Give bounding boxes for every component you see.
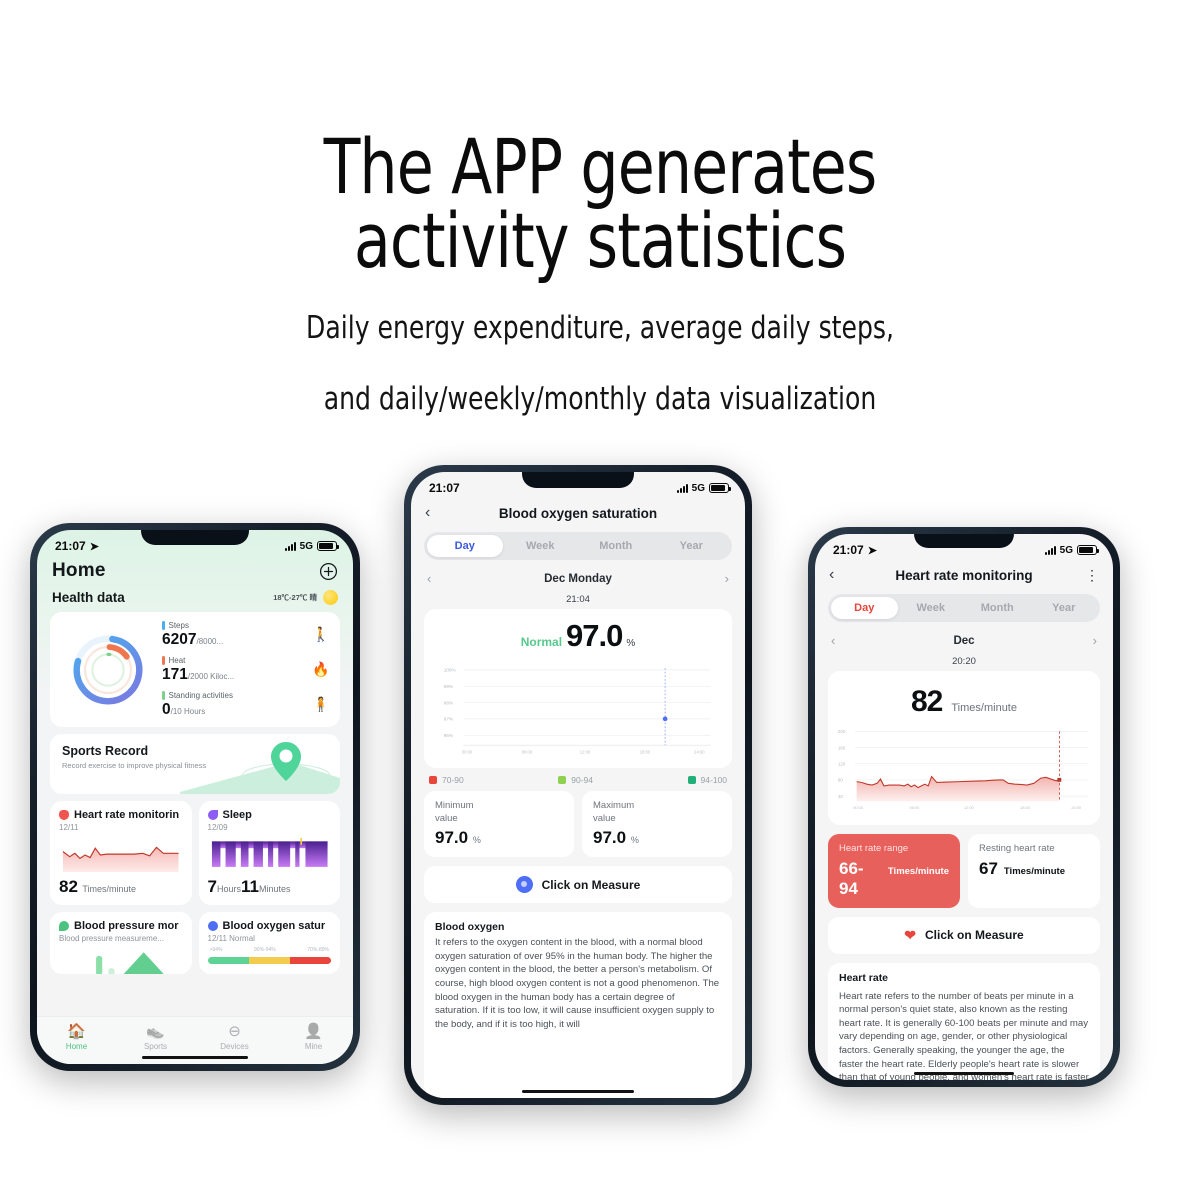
reading-time: 20:20 xyxy=(815,656,1113,667)
card-title: Blood pressure mor xyxy=(74,920,179,932)
tab-home[interactable]: 🏠 Home xyxy=(37,1024,116,1051)
phone-notch xyxy=(141,530,249,545)
droplet-icon xyxy=(59,921,69,931)
card-subtitle: Blood pressure measureme... xyxy=(59,934,183,943)
heart-rate-reading: 82 Times/minute xyxy=(836,679,1092,722)
sleep-hours-value: 7 xyxy=(208,877,217,896)
phone-notch xyxy=(914,534,1014,548)
person-icon: 👤 xyxy=(274,1024,353,1039)
period-segmented-control: Day Week Month Year xyxy=(424,532,732,560)
blood-drop-icon xyxy=(516,876,533,893)
metric-heat: Heat 171/2000 Kiloc... 🔥 xyxy=(162,656,330,684)
card-sleep[interactable]: Sleep 12/09 xyxy=(199,801,341,905)
heart-rate-sparkline xyxy=(59,838,183,872)
info-body: It refers to the oxygen content in the b… xyxy=(435,936,721,1031)
card-title: Sleep xyxy=(223,809,252,821)
reading-time: 21:04 xyxy=(411,594,745,605)
signal-bars-icon xyxy=(677,484,688,493)
sleep-bar-chart xyxy=(208,838,332,872)
status-time: 21:07 xyxy=(429,481,460,495)
tab-year[interactable]: Year xyxy=(1031,597,1098,619)
page-title: Blood oxygen saturation xyxy=(443,506,713,521)
spo2-legend: 70-90 90-94 94-100 xyxy=(411,768,745,791)
legend-label: 94-100 xyxy=(701,775,727,785)
battery-icon xyxy=(317,541,337,551)
sleep-minutes-value: 11 xyxy=(241,877,259,896)
svg-text:96%: 96% xyxy=(444,733,454,738)
svg-text:24:00: 24:00 xyxy=(694,749,705,754)
phone-heart-rate-screen: 21:07 ➤ 5G ‹ Heart rate monitoring ⋮ Day… xyxy=(808,527,1120,1087)
period-segmented-control: Day Week Month Year xyxy=(828,594,1100,622)
health-data-label: Health data xyxy=(52,590,125,605)
hero-title-line2: activity statistics xyxy=(72,204,1128,278)
location-arrow-icon: ➤ xyxy=(868,544,877,557)
measure-button[interactable]: Click on Measure xyxy=(424,866,732,903)
reading-unit: % xyxy=(626,638,635,649)
spo2-scale-label: 90%-94% xyxy=(254,947,276,953)
svg-text:97%: 97% xyxy=(444,717,454,722)
chevron-right-icon[interactable]: › xyxy=(725,571,729,586)
legend-label: 70-90 xyxy=(442,775,464,785)
walking-icon: 🚶 xyxy=(312,626,330,643)
tab-sports[interactable]: 👟 Sports xyxy=(116,1024,195,1051)
svg-text:200: 200 xyxy=(838,729,846,734)
date-navigator: ‹ Dec Monday › xyxy=(411,560,745,589)
phone-home-screen: 21:07 ➤ 5G Home Healt xyxy=(30,523,360,1071)
blood-oxygen-info-card: Blood oxygen It refers to the oxygen con… xyxy=(424,912,732,1098)
metric-value: 0 xyxy=(162,701,171,718)
tab-month[interactable]: Month xyxy=(578,535,654,557)
stat-unit: Times/minute xyxy=(888,866,949,877)
svg-text:06:00: 06:00 xyxy=(909,805,920,810)
legend-item: 94-100 xyxy=(688,775,727,785)
date-label: Dec xyxy=(953,635,974,647)
stat-value: 66-94 xyxy=(839,859,882,899)
metric-color-bar xyxy=(162,656,165,665)
status-time: 21:07 xyxy=(55,539,86,553)
reading-value: 97.0 xyxy=(566,618,622,654)
stat-unit: % xyxy=(631,835,639,845)
heart-rate-chart-card: 82 Times/minute 200160120 8040 xyxy=(828,671,1100,825)
svg-text:100%: 100% xyxy=(444,668,457,673)
battery-icon xyxy=(1077,545,1097,555)
svg-text:99%: 99% xyxy=(444,684,454,689)
measure-button-label: Click on Measure xyxy=(925,928,1024,942)
page-title: Home xyxy=(52,560,106,582)
signal-bars-icon xyxy=(1045,546,1056,555)
card-blood-oxygen[interactable]: Blood oxygen satur 12/11 Normal >94% 90%… xyxy=(199,912,341,974)
more-vertical-icon[interactable]: ⋮ xyxy=(1081,567,1099,584)
spo2-reading: Normal 97.0 % xyxy=(432,617,724,659)
legend-item: 70-90 xyxy=(429,775,464,785)
standing-icon: 🧍 xyxy=(312,696,330,713)
info-heading: Heart rate xyxy=(839,972,1089,984)
svg-text:80: 80 xyxy=(838,778,843,783)
home-indicator xyxy=(522,1090,634,1094)
home-indicator xyxy=(142,1056,248,1060)
watch-icon: ⊖ xyxy=(195,1024,274,1039)
navigation-bar: ‹ Blood oxygen saturation xyxy=(411,497,745,530)
card-date: 12/09 xyxy=(208,823,332,832)
tab-day[interactable]: Day xyxy=(831,597,898,619)
metric-goal: /2000 Kiloc... xyxy=(188,672,234,681)
tab-week[interactable]: Week xyxy=(898,597,965,619)
spo2-scale-label: 70%-89% xyxy=(307,947,329,953)
location-arrow-icon: ➤ xyxy=(90,540,99,553)
card-value: 82 xyxy=(59,877,78,896)
stat-value: 97.0 xyxy=(435,828,468,847)
date-navigator: ‹ Dec › xyxy=(815,622,1113,651)
chevron-left-icon[interactable]: ‹ xyxy=(425,504,443,522)
shoe-icon: 👟 xyxy=(116,1024,195,1039)
tab-label: Mine xyxy=(274,1042,353,1051)
svg-text:12:00: 12:00 xyxy=(964,805,975,810)
legend-swatch xyxy=(558,776,566,784)
navigation-bar: ‹ Heart rate monitoring ⋮ xyxy=(815,559,1113,592)
map-pin-icon xyxy=(180,736,340,794)
card-blood-pressure[interactable]: Blood pressure mor Blood pressure measur… xyxy=(50,912,192,974)
stat-value: 97.0 xyxy=(593,828,626,847)
hero-subtitle-line1: Daily energy expenditure, average daily … xyxy=(60,307,1140,350)
resting-heart-rate-card: Resting heart rate 67Times/minute xyxy=(968,834,1100,908)
stat-unit: Times/minute xyxy=(1004,866,1065,877)
svg-text:18:00: 18:00 xyxy=(1020,805,1031,810)
stat-label-line1: Minimum xyxy=(435,800,474,811)
svg-text:160: 160 xyxy=(838,745,846,750)
date-label: Dec Monday xyxy=(544,573,612,585)
status-badge: Normal xyxy=(521,635,562,649)
activity-rings xyxy=(60,624,156,716)
chevron-left-icon[interactable]: ‹ xyxy=(829,566,847,584)
tab-label: Sports xyxy=(116,1042,195,1051)
spo2-scale-bar xyxy=(208,957,332,964)
card-status: 12/11 Normal xyxy=(208,934,332,943)
svg-text:18:00: 18:00 xyxy=(640,749,651,754)
tab-day[interactable]: Day xyxy=(427,535,503,557)
maximum-value-card: Maximumvalue 97.0 % xyxy=(582,791,732,857)
health-summary-card[interactable]: Steps 6207/8000... 🚶 Heat 171/200 xyxy=(50,612,340,727)
card-title: Heart rate monitorin xyxy=(74,809,179,821)
tab-label: Devices xyxy=(195,1042,274,1051)
heart-icon: ❤ xyxy=(904,927,916,944)
metric-value: 171 xyxy=(162,666,188,683)
tab-label: Home xyxy=(37,1042,116,1051)
stat-label-line2: value xyxy=(435,813,458,824)
stat-label-line2: value xyxy=(593,813,616,824)
measure-button[interactable]: ❤ Click on Measure xyxy=(828,917,1100,954)
phone-blood-oxygen-screen: 21:07 5G ‹ Blood oxygen saturation Day W… xyxy=(404,465,752,1105)
svg-text:00:00: 00:00 xyxy=(462,749,473,754)
stat-label: Heart rate range xyxy=(839,843,949,856)
sleep-hours-unit: Hours xyxy=(217,884,241,894)
metric-color-bar xyxy=(162,621,165,630)
tab-month[interactable]: Month xyxy=(964,597,1031,619)
heart-rate-info-card: Heart rate Heart rate refers to the numb… xyxy=(828,963,1100,1080)
hero-heading-block: The APP generates activity statistics Da… xyxy=(0,130,1200,420)
info-body: Heart rate refers to the number of beats… xyxy=(839,990,1089,1080)
spo2-chart-card: Normal 97.0 % 100%99%98% 97%96% xyxy=(424,609,732,768)
legend-label: 90-94 xyxy=(571,775,593,785)
measure-button-label: Click on Measure xyxy=(542,878,641,892)
card-unit: Times/minute xyxy=(82,884,136,894)
weather-widget: 18℃-27℃ 晴 xyxy=(273,590,338,605)
network-label: 5G xyxy=(300,541,313,552)
network-label: 5G xyxy=(1060,545,1073,556)
svg-text:40: 40 xyxy=(838,794,843,799)
page-title: Heart rate monitoring xyxy=(847,568,1081,583)
minimum-value-card: Minimumvalue 97.0 % xyxy=(424,791,574,857)
home-icon: 🏠 xyxy=(37,1024,116,1039)
svg-text:120: 120 xyxy=(838,761,846,766)
svg-text:24:00: 24:00 xyxy=(1071,805,1082,810)
chevron-right-icon[interactable]: › xyxy=(1093,633,1097,648)
spo2-scale-label: >94% xyxy=(210,947,223,953)
flame-icon: 🔥 xyxy=(312,661,330,678)
metric-goal: /8000... xyxy=(196,637,223,646)
tab-devices[interactable]: ⊖ Devices xyxy=(195,1024,274,1051)
weather-text: 18℃-27℃ 晴 xyxy=(273,592,317,603)
stat-value: 67 xyxy=(979,859,998,879)
svg-text:98%: 98% xyxy=(444,700,454,705)
stat-label-line1: Maximum xyxy=(593,800,634,811)
card-date: 12/11 xyxy=(59,823,183,832)
heart-rate-area-chart: 200160120 8040 00:0006:0012:00 18:002 xyxy=(836,722,1092,814)
signal-bars-icon xyxy=(285,542,296,551)
metric-goal: /10 Hours xyxy=(171,707,206,716)
network-label: 5G xyxy=(692,483,705,494)
plus-circle-icon[interactable] xyxy=(319,562,338,581)
moon-icon xyxy=(208,810,218,820)
card-heart-rate[interactable]: Heart rate monitorin 12/11 82 Times/minu… xyxy=(50,801,192,905)
circle-icon xyxy=(208,921,218,931)
sun-icon xyxy=(323,590,338,605)
svg-text:12:00: 12:00 xyxy=(580,749,591,754)
sleep-minutes-unit: Minutes xyxy=(259,884,291,894)
legend-swatch xyxy=(688,776,696,784)
info-heading: Blood oxygen xyxy=(435,921,721,933)
tab-mine[interactable]: 👤 Mine xyxy=(274,1024,353,1051)
battery-icon xyxy=(709,483,729,493)
stat-unit: % xyxy=(473,835,481,845)
metric-label: Heat xyxy=(169,656,186,665)
card-title: Blood oxygen satur xyxy=(223,920,326,932)
status-time: 21:07 xyxy=(833,543,864,557)
heart-rate-range-card: Heart rate range 66-94Times/minute xyxy=(828,834,960,908)
metric-steps: Steps 6207/8000... 🚶 xyxy=(162,621,330,649)
reading-value: 82 xyxy=(911,685,942,719)
hero-subtitle-line2: and daily/weekly/monthly data visualizat… xyxy=(60,378,1140,421)
sports-record-card[interactable]: Sports Record Record exercise to improve… xyxy=(50,734,340,794)
metric-value: 6207 xyxy=(162,631,196,648)
metric-label: Steps xyxy=(169,621,189,630)
tab-week[interactable]: Week xyxy=(503,535,579,557)
tab-year[interactable]: Year xyxy=(654,535,730,557)
metric-color-bar xyxy=(162,691,165,700)
hero-title-line1: The APP generates xyxy=(72,130,1128,204)
metric-label: Standing activities xyxy=(169,691,233,700)
blood-pressure-art xyxy=(59,947,183,974)
spo2-stat-cards: Minimumvalue 97.0 % Maximumvalue 97.0 % xyxy=(424,791,732,857)
svg-text:06:00: 06:00 xyxy=(522,749,533,754)
home-indicator xyxy=(914,1072,1014,1076)
heart-rate-stat-cards: Heart rate range 66-94Times/minute Resti… xyxy=(828,834,1100,908)
heart-icon xyxy=(59,810,69,820)
spo2-line-chart: 100%99%98% 97%96% 00:0006:0012:00 18:002… xyxy=(432,659,724,757)
metric-standing: Standing activities 0/10 Hours 🧍 xyxy=(162,691,330,719)
stat-label: Resting heart rate xyxy=(979,843,1089,856)
svg-text:00:00: 00:00 xyxy=(853,805,864,810)
phone-notch xyxy=(522,472,634,488)
reading-unit: Times/minute xyxy=(951,702,1017,714)
legend-item: 90-94 xyxy=(558,775,593,785)
legend-swatch xyxy=(429,776,437,784)
